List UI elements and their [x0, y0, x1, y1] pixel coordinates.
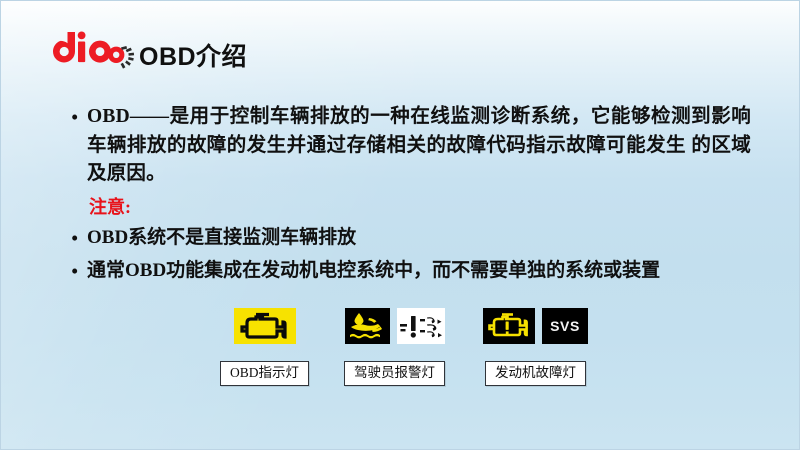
slide-header: OBD介绍 — [1, 1, 800, 93]
bullet-marker: • — [71, 103, 87, 131]
bullet-marker: • — [71, 257, 87, 285]
icon-caption-engine: 发动机故障灯 — [485, 361, 586, 386]
icon-strip — [234, 304, 296, 348]
dioo-logo — [45, 30, 137, 74]
slide-body: • OBD——是用于控制车辆排放的一种在线监测诊断系统，它能够检测到影响车辆排放… — [71, 103, 751, 287]
page-title: OBD介绍 — [139, 37, 247, 73]
note-heading: 注意: — [89, 195, 751, 219]
icon-caption-driver: 驾驶员报警灯 — [344, 361, 445, 386]
paragraph-main-text: OBD——是用于控制车辆排放的一种在线监测诊断系统，它能够检测到影响车辆排放的故… — [87, 103, 751, 189]
paragraph-note-1-text: OBD系统不是直接监测车辆排放 — [87, 224, 751, 251]
icon-group-obd: OBD指示灯 — [220, 304, 309, 386]
icon-group-engine: SVS 发动机故障灯 — [483, 304, 588, 386]
svs-label: SVS — [550, 318, 580, 334]
fluid-spray-warning-icon — [345, 308, 390, 344]
paragraph-note-2-text: 通常OBD功能集成在发动机电控系统中，而不需要单独的系统或装置 — [87, 257, 751, 284]
slide-canvas: OBD介绍 • OBD——是用于控制车辆排放的一种在线监测诊断系统，它能够检测到… — [0, 0, 800, 450]
paragraph-note-1: • OBD系统不是直接监测车辆排放 — [71, 224, 751, 252]
svs-indicator-icon: SVS — [542, 308, 588, 344]
icon-strip — [345, 304, 445, 348]
icon-strip: SVS — [483, 304, 588, 348]
paragraph-note-2: • 通常OBD功能集成在发动机电控系统中，而不需要单独的系统或装置 — [71, 257, 751, 285]
exhaust-emission-warning-icon — [397, 308, 445, 344]
bullet-marker: • — [71, 224, 87, 252]
paragraph-main: • OBD——是用于控制车辆排放的一种在线监测诊断系统，它能够检测到影响车辆排放… — [71, 103, 751, 189]
indicator-lamp-row: OBD指示灯 — [1, 304, 800, 394]
check-engine-malfunction-icon — [483, 308, 535, 344]
check-engine-icon — [234, 308, 296, 344]
icon-group-driver: 驾驶员报警灯 — [344, 304, 445, 386]
icon-caption-obd: OBD指示灯 — [220, 361, 309, 386]
